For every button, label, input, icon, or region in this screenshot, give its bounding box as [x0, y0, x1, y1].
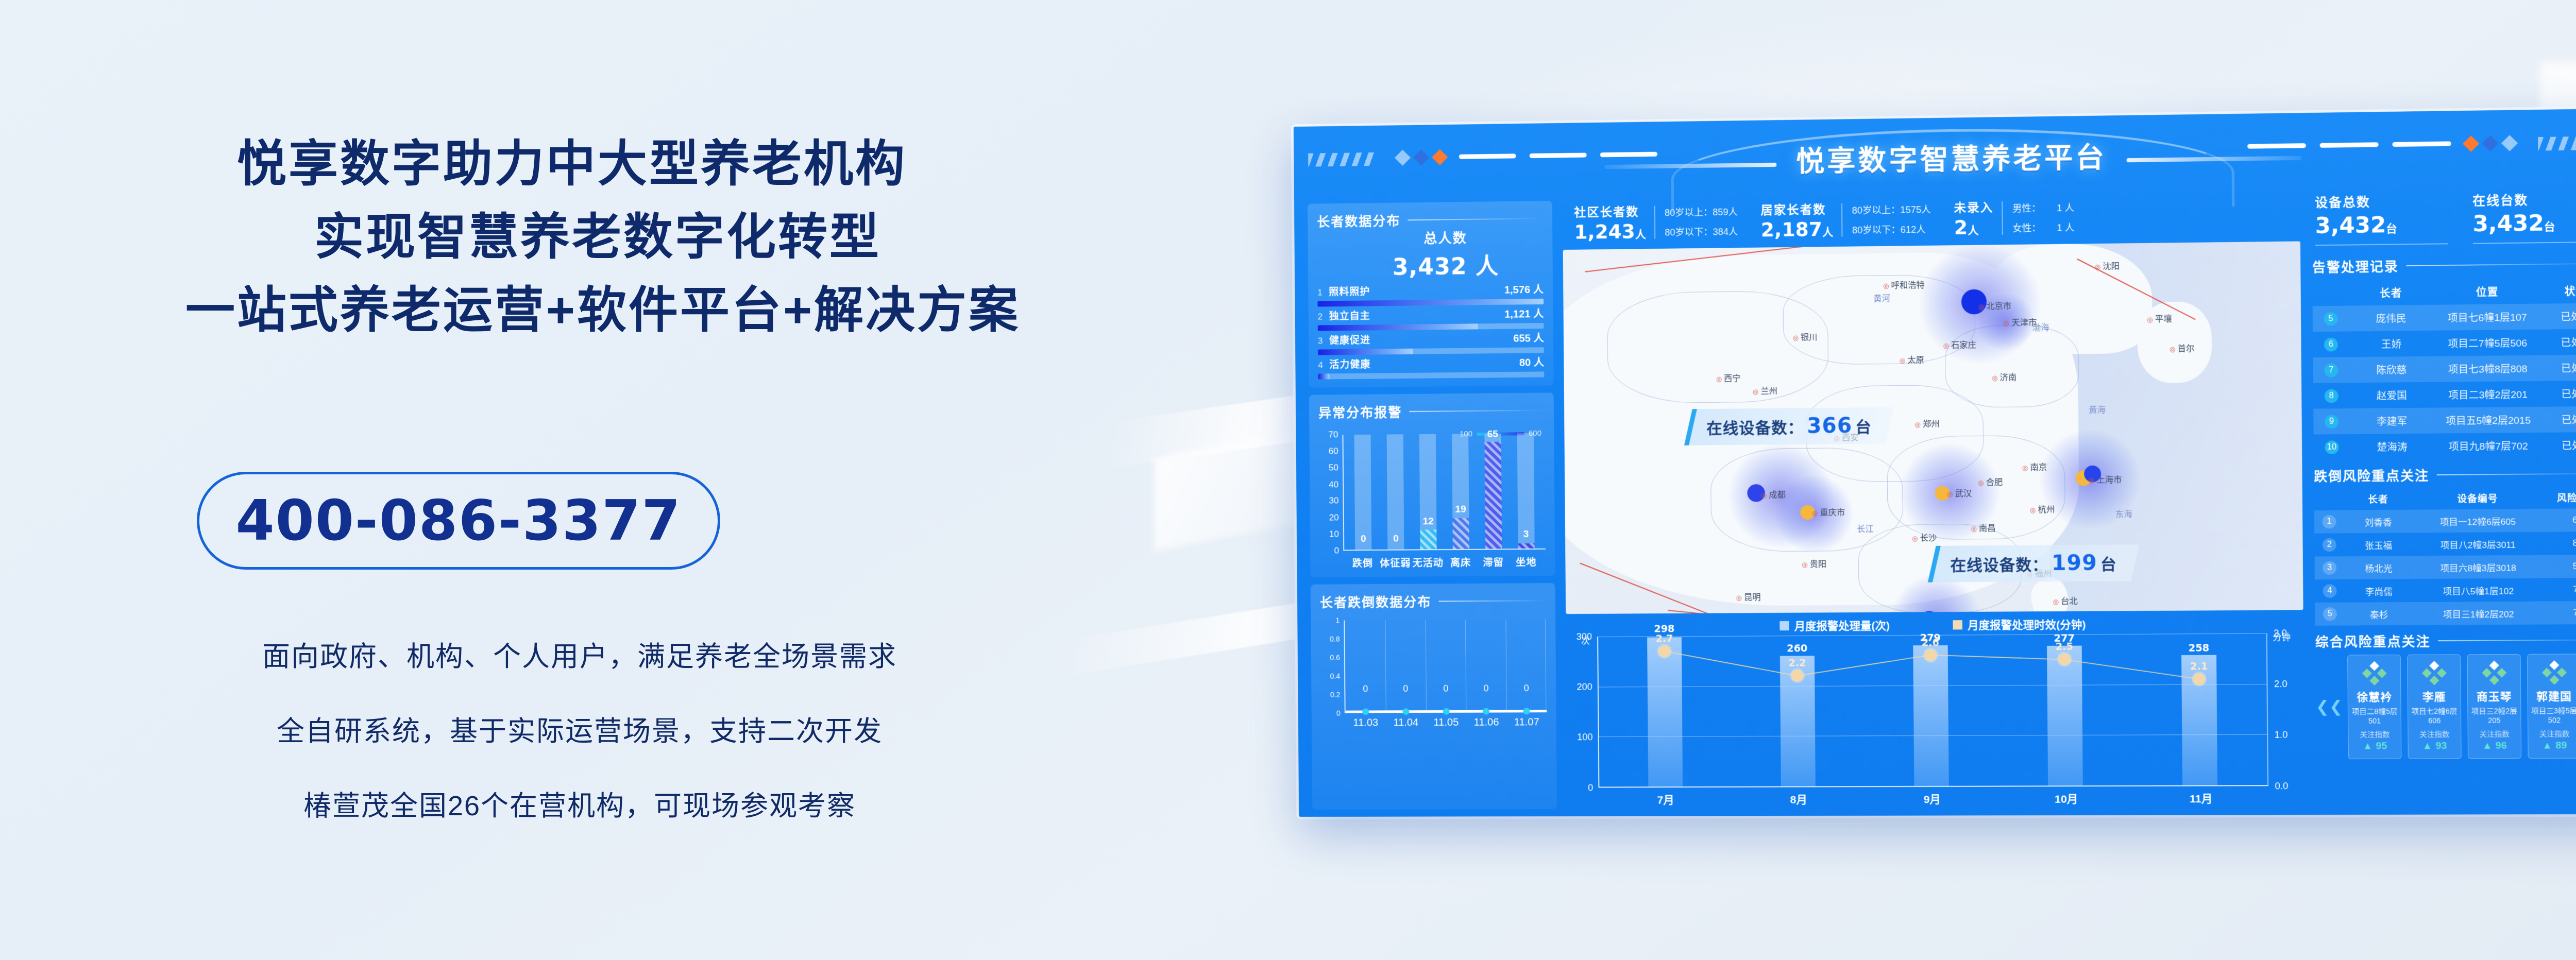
elder-rank-list: 1 照料照护 1,576 人 2 独立自主 1,121 人: [1317, 281, 1544, 380]
map-city-label: 天津市: [2003, 315, 2037, 328]
col-elder: 长者: [2349, 279, 2433, 306]
row-index: 5: [2323, 607, 2337, 621]
total-value: 3,432 人: [1348, 247, 1544, 282]
headline-line-3: 一站式养老运营+软件平台+解决方案: [0, 279, 1206, 342]
list-item: 2 独立自主 1,121 人: [1317, 305, 1544, 331]
title-rule: [1409, 410, 1544, 412]
stat-unit: 人: [1635, 229, 1646, 241]
x-tick: 11.07: [1506, 716, 1547, 728]
y-axis-labels: 10.80.6 0.40.20: [1320, 621, 1344, 713]
cell-location: 项目九8幢7层702: [2434, 433, 2543, 459]
map-city-label: 兰州: [1753, 384, 1777, 397]
diamond-cluster-icon: [2470, 661, 2518, 686]
title-rule: [2438, 639, 2576, 641]
device-online-label: 在线台数: [2472, 189, 2576, 209]
map-geo-label: 东海: [2115, 507, 2132, 520]
table-row[interactable]: 6王娇项目二7幢5层506已处理: [2313, 329, 2576, 357]
row-index: 5: [2324, 312, 2337, 325]
subtext-line-2: 全自研系统，基于实际运营场景，支持二次开发: [0, 708, 1206, 749]
legend-swatch-icon: [1953, 620, 1962, 629]
callout-prefix: 在线设备数：: [1950, 557, 2048, 575]
cell-elder: 庞伟民: [2349, 305, 2433, 332]
map-city-label: 首尔: [2170, 341, 2195, 354]
fall-line-chart: 10.80.6 0.40.20 0 0 0 0 0: [1320, 619, 1547, 713]
china-map[interactable]: 沈阳 呼和浩特 北京市 天津市 石家庄 太原 济南 银川 西宁 兰州 郑州 西安…: [1563, 241, 2303, 614]
cell-elder: 刘香香: [2344, 510, 2413, 534]
cell-elder: 李建军: [2350, 408, 2434, 434]
stat-label: 居家长者数: [1760, 199, 1833, 218]
col-elder: 长者: [2344, 488, 2412, 510]
map-city-label: 平壤: [2147, 312, 2172, 325]
list-item: 4 活力健康 80 人: [1318, 354, 1544, 379]
rank-number: 3: [1318, 336, 1329, 346]
rank-value: 80 人: [1519, 354, 1544, 369]
table-header-row: 长者 设备编号 风险指数: [2314, 486, 2576, 510]
map-city-label: 石家庄: [1943, 338, 1976, 351]
title-rule: [1408, 218, 1543, 220]
map-city-label: 济南: [1992, 370, 2017, 383]
risk-card-score: 96: [2496, 740, 2507, 751]
risk-card-score-label: 关注指数: [2351, 729, 2399, 740]
callout-prefix: 在线设备数：: [1707, 419, 1804, 437]
x-tick: 11.05: [1426, 717, 1466, 729]
bar-column: 0: [1354, 435, 1372, 550]
status-badge: 已处理: [2542, 381, 2576, 407]
col-index: [2312, 280, 2349, 306]
right-column: 设备总数 3,432台 在线台数 3,432台 告警处理记录: [2302, 187, 2576, 815]
legend-item-latency[interactable]: 月度报警处理时效(分钟): [1953, 616, 2086, 633]
progress-fill: [1318, 349, 1413, 355]
risk-card-score-label: 关注指数: [2411, 729, 2459, 740]
gender-label: 女性：: [2012, 220, 2041, 234]
cell-location: 项目七6幢1层107: [2433, 304, 2541, 331]
table-row[interactable]: 7陈欣慈项目七3幢8层808已处理: [2313, 354, 2576, 383]
cell-device: 项目一12幢6层605: [2412, 509, 2543, 533]
row-index: 3: [2323, 561, 2336, 575]
status-badge: 已处理: [2543, 432, 2576, 458]
dashboard-title: 悦享数字智慧养老平台: [1294, 127, 2576, 186]
table-header-row: 长者 位置 状态: [2312, 277, 2576, 306]
title-rule: [2406, 263, 2576, 266]
x-tick: 9月: [1865, 791, 1999, 807]
x-tick: 离床: [1444, 555, 1477, 569]
legend-swatch-icon: [1780, 621, 1789, 630]
cell-device: 项目八5幢1层102: [2413, 578, 2544, 602]
headline-line-2: 实现智慧养老数字化转型: [0, 206, 1206, 269]
table-row[interactable]: 10楚海涛项目九8幢7层702已处理: [2314, 432, 2576, 460]
status-badge: 已处理: [2542, 354, 2576, 381]
risk-card-location: 项目二8幢5层501: [2350, 706, 2398, 725]
x-tick: 11.03: [1346, 717, 1386, 729]
stat-detail: 80岁以上：1575人: [1852, 202, 1930, 216]
triangle-up-icon: ▲: [2542, 740, 2552, 751]
x-tick: 8月: [1732, 791, 1866, 807]
row-index: 6: [2324, 337, 2338, 351]
map-city-label: 昆明: [1736, 590, 1760, 603]
stats-bar: 社区长者数 1,243人 80岁以上：859人 80岁以下：384人 居家长者数…: [1561, 192, 2302, 250]
callout-suffix: 台: [2100, 556, 2117, 574]
x-tick: 7月: [1599, 792, 1732, 808]
progress-fill: [1318, 323, 1478, 331]
map-city-label: 郑州: [1914, 417, 1940, 430]
rank-label: 健康促进: [1329, 333, 1370, 347]
rank-label: 活力健康: [1329, 357, 1370, 371]
line-value-label: 2.5: [2055, 641, 2073, 653]
risk-card-score-label: 关注指数: [2470, 729, 2519, 740]
line-value-label: 2.6: [1922, 637, 1940, 648]
device-online-card: 在线台数 3,432台: [2472, 189, 2576, 244]
anomaly-chart-card: 异常分布报警 100 600 706050 403020 100 0: [1309, 392, 1555, 577]
bar-column: 12: [1419, 434, 1437, 550]
status-badge: 已处理: [2541, 329, 2576, 355]
gender-value: 1 人: [2057, 200, 2074, 214]
rank-label: 照料照护: [1329, 284, 1370, 298]
table-row[interactable]: 5秦杉项目三1幢2层20278: [2315, 601, 2576, 626]
col-score: 风险指数: [2543, 486, 2576, 509]
cell-elder: 赵爱国: [2349, 382, 2434, 408]
device-online-value: 3,432: [2472, 210, 2544, 237]
col-status: 状态: [2541, 277, 2576, 303]
map-geo-label: 渤海: [2032, 320, 2049, 333]
cell-elder: 杨北光: [2344, 556, 2413, 579]
bar-column: 0: [1387, 434, 1404, 550]
rank-label: 独立自主: [1329, 308, 1370, 322]
x-tick: 11月: [2133, 790, 2268, 806]
gender-label: 男性：: [2012, 201, 2041, 215]
stat-value: 1,243: [1574, 220, 1635, 244]
risk-card[interactable]: 李雁 项目七2幢6层606 关注指数 ▲93: [2407, 654, 2461, 759]
row-index: 9: [2325, 415, 2338, 428]
phone-number: 400-086-3377: [235, 489, 681, 553]
stat-details: 80岁以上：859人 80岁以下：384人: [1654, 204, 1738, 238]
stat-label: 未录入: [1954, 197, 1993, 215]
dashboard-screen: 悦享数字智慧养老平台 长者数据分布 总人数 3,432 人 1: [1294, 109, 2576, 817]
map-city-label: 合肥: [1978, 475, 2003, 488]
stat-value: 2: [1954, 216, 1968, 239]
risk-card-score: 89: [2555, 740, 2567, 751]
stat-community-elders: 社区长者数 1,243人 80岁以上：859人 80岁以下：384人: [1563, 198, 1750, 246]
risk-card[interactable]: 郭建国 项目三3幢5层502 关注指数 ▲89: [2527, 654, 2576, 759]
title-rule: [2437, 473, 2576, 475]
map-city-label: 台北: [2053, 594, 2078, 607]
risk-card-score: 95: [2376, 741, 2387, 751]
legend-label: 月度报警处理量(次): [1794, 618, 1890, 633]
cell-elder: 李尚儒: [2345, 579, 2413, 603]
rank-value: 1,576 人: [1504, 281, 1544, 297]
dashboard-body: 长者数据分布 总人数 3,432 人 1 照料照护 1,576 人: [1294, 187, 2576, 817]
col-device: 设备编号: [2412, 487, 2543, 510]
cell-location: 项目二3幢2层201: [2434, 381, 2542, 408]
map-city-label: 沈阳: [2094, 259, 2120, 272]
overall-risk-section: 综合风险重点关注 ❮❮ 徐慧衿 项目二8幢5层501 关注指数 ▲95: [2315, 630, 2576, 759]
title-rule: [1438, 600, 1546, 602]
x-tick: 11.04: [1386, 717, 1426, 729]
bar-column: 19: [1452, 434, 1469, 549]
cell-elder: 楚海涛: [2350, 434, 2434, 460]
row-index: 1: [2322, 515, 2336, 529]
map-city-label: 呼和浩特: [1883, 278, 1925, 290]
line-point: [1658, 645, 1670, 657]
cell-score: 76: [2544, 578, 2576, 602]
fall-risk-section: 跌倒风险重点关注 长者 设备编号 风险指数 1刘香香项目一12幢6层60567 …: [2314, 464, 2576, 626]
device-totals: 设备总数 3,432台 在线台数 3,432台: [2312, 187, 2576, 251]
cell-score: 52: [2544, 555, 2576, 578]
headline-line-1: 悦享数字助力中大型养老机构: [0, 133, 1206, 196]
cell-elder: 张玉福: [2344, 533, 2413, 556]
x-tick: 无活动: [1412, 555, 1445, 569]
risk-card-location: 项目三3幢5层502: [2530, 706, 2576, 725]
alarm-records-title: 告警处理记录: [2312, 256, 2399, 277]
plot-area: 0 0 12 19 65 3: [1342, 433, 1545, 551]
cell-device: 项目八2幢3层3011: [2413, 532, 2544, 556]
cell-location: 项目七3幢8层808: [2434, 355, 2542, 382]
device-online-unit: 台: [2544, 221, 2555, 233]
map-city-label: 太原: [1900, 353, 1925, 366]
line-value-label: 2.7: [1655, 633, 1673, 644]
cell-score: 67: [2543, 508, 2576, 532]
callout-suffix: 台: [1856, 419, 1872, 436]
marketing-panel: 悦享数字助力中大型养老机构 实现智慧养老数字化转型 一站式养老运营+软件平台+解…: [0, 0, 1206, 960]
stat-unregistered: 未录入 2人 男性：1 人 女性：1 人: [1942, 194, 2086, 241]
line-point: [2058, 653, 2071, 665]
x-tick: 体征弱: [1379, 556, 1412, 570]
map-city-label: 西宁: [1716, 371, 1740, 384]
legend-label: 月度报警处理时效(分钟): [1968, 616, 2086, 633]
left-column: 长者数据分布 总人数 3,432 人 1 照料照护 1,576 人: [1294, 201, 1565, 817]
x-tick: 滞留: [1477, 555, 1510, 569]
cell-elder: 陈欣慈: [2349, 356, 2434, 383]
center-column: 社区长者数 1,243人 80岁以上：859人 80岁以下：384人 居家长者数…: [1561, 192, 2307, 816]
map-city-label: 北京市: [1978, 299, 2011, 312]
alarm-records-table[interactable]: 长者 位置 状态 5庞伟民项目七6幢1层107已处理 6王娇项目二7幢5层506…: [2312, 277, 2576, 460]
triangle-up-icon: ▲: [2422, 741, 2433, 751]
cell-device: 项目六8幢3层3018: [2413, 555, 2544, 579]
row-index: 8: [2325, 389, 2338, 403]
y-axis-labels: 706050 403020 100: [1318, 435, 1343, 551]
col-index: [2314, 488, 2344, 510]
map-city-label: 武汉: [1947, 486, 1972, 499]
cell-elder: 王娇: [2349, 331, 2433, 357]
progress-track: [1318, 371, 1544, 379]
dashboard-header: 悦享数字智慧养老平台: [1294, 109, 2576, 204]
overall-risk-title: 综合风险重点关注: [2315, 631, 2431, 651]
diamond-cluster-icon: [2530, 661, 2576, 686]
risk-card-location: 项目七2幢6层606: [2410, 706, 2459, 725]
line-point: [1791, 670, 1804, 682]
stat-value: 2,187: [1761, 218, 1822, 242]
plot-area: 0 0 0 0 0: [1344, 619, 1547, 713]
map-city-label: 银川: [1792, 330, 1817, 343]
x-axis-labels: 11.03 11.04 11.05 11.06 11.07: [1321, 712, 1547, 729]
risk-carousel: ❮❮ 徐慧衿 项目二8幢5层501 关注指数 ▲95 李雁 项目七2幢6: [2315, 654, 2576, 759]
rank-value: 1,121 人: [1504, 305, 1544, 321]
rank-value: 655 人: [1513, 330, 1544, 345]
cell-location: 项目二7幢5层506: [2433, 330, 2541, 356]
fall-risk-title: 跌倒风险重点关注: [2314, 466, 2429, 485]
device-total-card: 设备总数 3,432台: [2315, 191, 2448, 246]
map-callout-online-devices-2: 在线设备数：199台: [1928, 545, 2139, 582]
map-geo-label: 黄河: [1873, 291, 1890, 304]
gender-value: 1 人: [2057, 220, 2074, 234]
rank-number: 2: [1318, 312, 1329, 322]
risk-card-name: 郭建国: [2530, 688, 2576, 704]
risk-card-name: 徐慧衿: [2350, 689, 2398, 705]
map-city-label: 上海市: [2088, 472, 2122, 485]
diamond-cluster-icon: [2410, 661, 2459, 687]
line-point: [1924, 649, 1937, 661]
rank-number: 4: [1318, 360, 1329, 370]
table-row[interactable]: 8赵爱国项目二3幢2层201已处理: [2313, 381, 2576, 409]
stat-unit: 人: [1968, 225, 1979, 237]
row-index: 2: [2323, 538, 2336, 552]
risk-card-score-label: 关注指数: [2530, 728, 2576, 739]
col-location: 位置: [2433, 278, 2541, 305]
map-city-label: 杭州: [2030, 502, 2055, 515]
row-index: 4: [2323, 584, 2336, 598]
rank-number: 1: [1317, 287, 1329, 298]
legend-item-volume[interactable]: 月度报警处理量(次): [1780, 618, 1890, 633]
list-item: 3 健康促进 655 人: [1318, 330, 1544, 355]
line-value-label: 2.2: [1788, 658, 1806, 669]
table-row[interactable]: 1刘香香项目一12幢6层60567: [2314, 508, 2576, 534]
cell-location: 项目五5幢2层2015: [2434, 407, 2542, 434]
stat-home-elders: 居家长者数 2,187人 80岁以上：1575人 80岁以下：612人: [1749, 196, 1942, 243]
list-item: 1 照料照护 1,576 人: [1317, 281, 1544, 307]
carousel-prev-icon[interactable]: ❮❮: [2316, 698, 2343, 716]
anomaly-bar-chart: 706050 403020 100 0 0 12 19 65 3: [1318, 433, 1545, 551]
table-row[interactable]: 5庞伟民项目七6幢1层107已处理: [2313, 303, 2576, 332]
elder-distribution-card: 长者数据分布 总人数 3,432 人 1 照料照护 1,576 人: [1308, 201, 1554, 388]
x-tick: 10月: [1999, 791, 2133, 807]
total-label: 总人数: [1348, 227, 1543, 248]
stat-detail: 80岁以上：859人: [1665, 204, 1738, 219]
fall-risk-table[interactable]: 长者 设备编号 风险指数 1刘香香项目一12幢6层60567 2张玉福项目八2幢…: [2314, 486, 2576, 626]
stat-label: 社区长者数: [1574, 202, 1646, 220]
map-city-label: 成都: [1761, 488, 1786, 501]
diamond-cluster-icon: [2350, 661, 2398, 687]
risk-card[interactable]: 商玉琴 项目三2幢2层205 关注指数 ▲96: [2467, 654, 2522, 759]
risk-card-score: 93: [2435, 741, 2447, 751]
stat-details: 男性：1 人 女性：1 人: [2002, 200, 2074, 234]
plot-wrapper: 次 300200 1000 298 260: [1566, 633, 2305, 788]
risk-card-name: 李雁: [2410, 689, 2459, 705]
subtext-line-3: 椿萱茂全国26个在营机构，可现场参观考察: [0, 783, 1206, 824]
triangle-up-icon: ▲: [2363, 741, 2373, 751]
y-axis-right: 分钟 3.02.0 1.00.0: [2267, 633, 2305, 786]
risk-card-name: 商玉琴: [2470, 688, 2518, 704]
map-city-label: 长沙: [1912, 530, 1937, 543]
fall-chart-card: 长者跌倒数据分布 10.80.6 0.40.20 0 0: [1311, 583, 1557, 810]
progress-fill: [1318, 373, 1329, 379]
phone-cta-button[interactable]: 400-086-3377: [197, 472, 720, 570]
bar-column: 3: [1517, 433, 1534, 548]
line-point: [2193, 673, 2206, 685]
line-value-label: 2.1: [2190, 661, 2208, 672]
triangle-up-icon: ▲: [2482, 740, 2493, 751]
stat-detail: 80岁以下：612人: [1852, 222, 1931, 236]
device-total-value: 3,432: [2315, 212, 2386, 238]
fall-chart-title: 长者跌倒数据分布: [1320, 592, 1432, 611]
map-city-label: 南京: [2022, 460, 2047, 473]
x-axis-labels: 7月 8月 9月 10月 11月: [1567, 786, 2305, 808]
x-tick: 跌倒: [1346, 556, 1379, 570]
dashboard-device-mockup: 悦享数字智慧养老平台 长者数据分布 总人数 3,432 人 1: [1294, 109, 2576, 817]
status-badge: 已处理: [2543, 406, 2576, 433]
alarm-records-section: 告警处理记录 长者 位置 状态 5庞伟民项目七6幢1层107已处理 6王娇项目二…: [2312, 254, 2576, 460]
bar-column: 65: [1484, 434, 1502, 549]
callout-value: 199: [2052, 551, 2097, 575]
total-block: 总人数 3,432 人: [1348, 227, 1543, 282]
subtext-line-1: 面向政府、机构、个人用户，满足养老全场景需求: [0, 633, 1206, 674]
x-axis-labels: 跌倒 体征弱 无活动 离床 滞留 坐地: [1319, 550, 1546, 570]
map-callout-online-devices-1: 在线设备数：366台: [1684, 407, 1894, 445]
cell-elder: 秦杉: [2345, 602, 2413, 626]
device-total-unit: 台: [2386, 223, 2397, 235]
map-geo-label: 长江: [1857, 522, 1874, 534]
elder-distribution-title: 长者数据分布: [1317, 211, 1401, 231]
row-index: 7: [2324, 363, 2338, 377]
table-row[interactable]: 3杨北光项目六8幢3层301852: [2315, 555, 2576, 579]
row-index: 10: [2325, 440, 2338, 454]
table-row[interactable]: 9李建军项目五5幢2层2015已处理: [2313, 406, 2576, 435]
map-city-label: 重庆市: [1812, 506, 1845, 519]
table-row[interactable]: 2张玉福项目八2幢3层301188: [2314, 532, 2576, 557]
map-geo-label: 黄海: [2089, 403, 2106, 416]
anomaly-chart-title: 异常分布报警: [1318, 402, 1402, 421]
cell-device: 项目三1幢2层202: [2413, 602, 2544, 625]
callout-value: 366: [1807, 414, 1852, 438]
table-row[interactable]: 4李尚儒项目八5幢1层10276: [2315, 578, 2576, 603]
status-badge: 已处理: [2541, 303, 2576, 329]
y-axis-left: 次 300200 1000: [1566, 637, 1599, 788]
risk-card[interactable]: 徐慧衿 项目二8幢5层501 关注指数 ▲95: [2347, 655, 2401, 759]
stat-detail: 80岁以下：384人: [1665, 224, 1738, 238]
x-tick: 坐地: [1510, 555, 1543, 569]
monthly-alarm-chart: 月度报警处理量(次) 月度报警处理时效(分钟) 次 300200 1000: [1566, 610, 2305, 811]
cell-score: 78: [2544, 601, 2576, 625]
map-city-label: 贵阳: [1802, 557, 1826, 570]
map-city-label: 南昌: [1971, 521, 1996, 534]
stat-details: 80岁以上：1575人 80岁以下：612人: [1841, 202, 1931, 236]
device-total-label: 设备总数: [2315, 191, 2448, 211]
plot-area: 298 260 279 277 258 2.7: [1597, 633, 2268, 788]
risk-card-location: 项目三2幢2层205: [2470, 706, 2519, 725]
x-tick: 11.06: [1466, 717, 1506, 729]
stat-unit: 人: [1822, 227, 1834, 238]
cell-score: 88: [2543, 532, 2576, 555]
